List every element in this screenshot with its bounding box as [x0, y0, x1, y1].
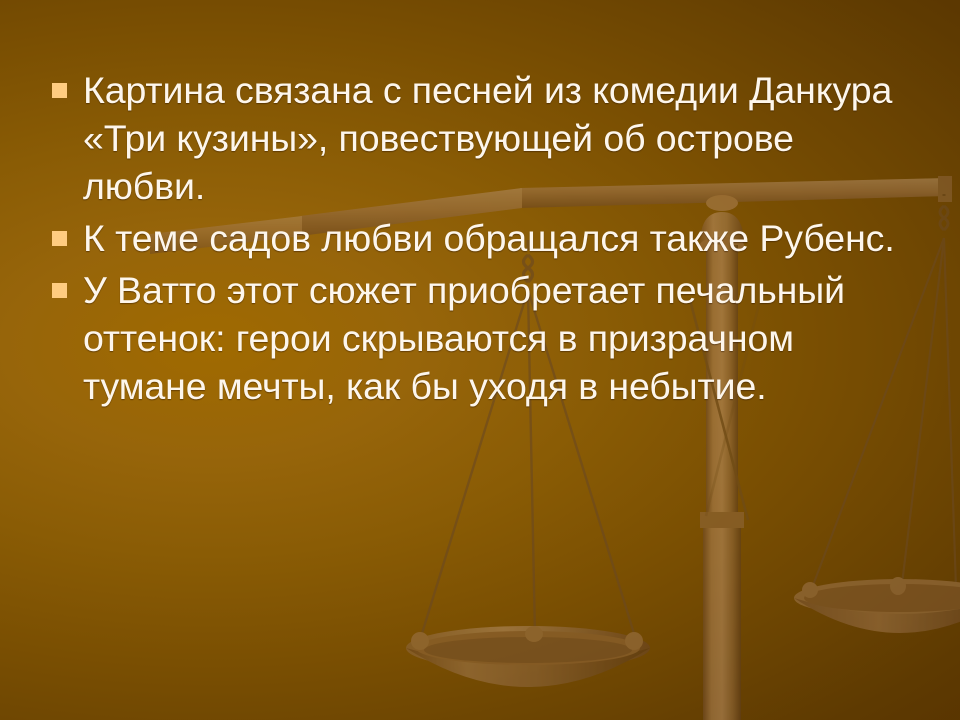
square-bullet-icon: [52, 283, 67, 298]
list-item: У Ватто этот сюжет приобретает печальный…: [52, 266, 924, 410]
square-bullet-icon: [52, 83, 67, 98]
bullet-text: У Ватто этот сюжет приобретает печальный…: [83, 266, 924, 410]
scale-left-pan: [406, 626, 650, 687]
scale-right-pan: [794, 577, 960, 633]
bullet-text: К теме садов любви обращался также Рубен…: [83, 214, 924, 262]
list-item: Картина связана с песней из комедии Данк…: [52, 66, 924, 210]
bullet-text: Картина связана с песней из комедии Данк…: [83, 66, 924, 210]
list-item: К теме садов любви обращался также Рубен…: [52, 214, 924, 262]
square-bullet-icon: [52, 231, 67, 246]
presentation-slide: Картина связана с песней из комедии Данк…: [0, 0, 960, 720]
slide-body-text: Картина связана с песней из комедии Данк…: [52, 66, 924, 414]
